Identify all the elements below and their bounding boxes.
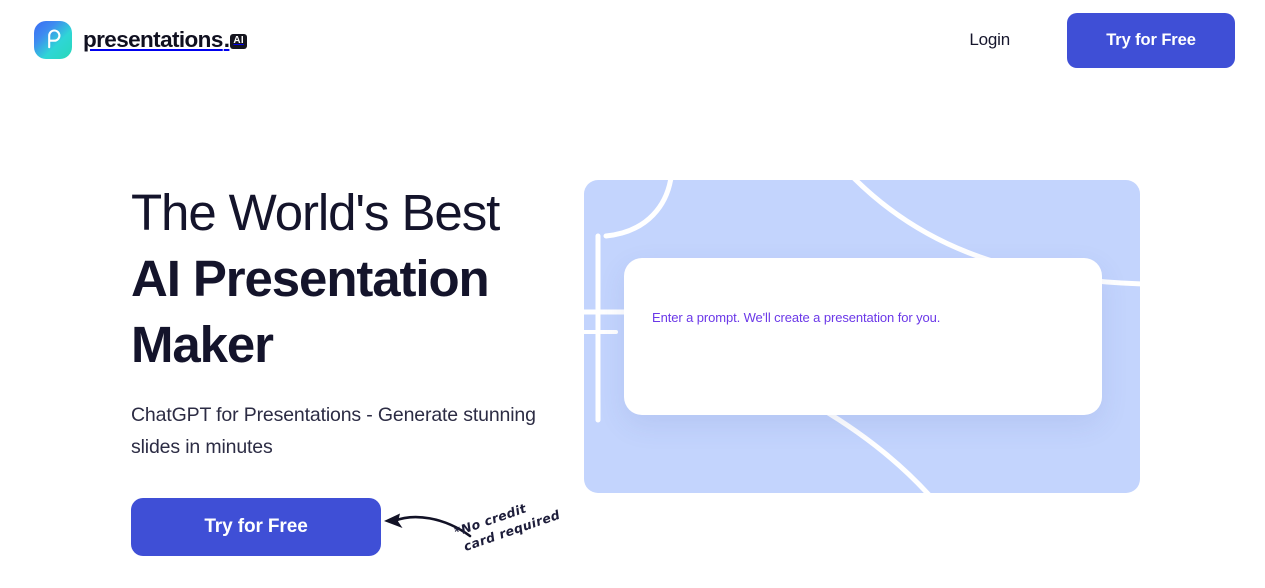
page-title-line-3: Maker [131,312,601,378]
brand-ai-badge: AI [230,34,246,49]
hero-subtitle: ChatGPT for Presentations - Generate stu… [131,399,583,463]
login-link[interactable]: Login [969,30,1010,50]
page-title-line-2: AI Presentation [131,246,601,312]
page-title: The World's Best AI Presentation Maker [131,180,601,378]
header-nav: Login Try for Free [969,12,1235,68]
prompt-input-card[interactable]: Enter a prompt. We'll create a presentat… [624,258,1102,415]
brand-word-text: presentations [83,29,223,52]
prompt-placeholder-text: Enter a prompt. We'll create a presentat… [652,310,940,325]
no-credit-card-note: *No credit card required [452,485,577,556]
hero-visual-panel: Enter a prompt. We'll create a presentat… [584,180,1140,493]
brand-wordmark: presentations.AI [83,29,247,52]
brand-logo[interactable]: presentations.AI [34,21,247,59]
page-title-line-1: The World's Best [131,180,601,246]
hero-try-for-free-button[interactable]: Try for Free [131,498,381,556]
landing-page: presentations.AI Login Try for Free The … [0,0,1265,588]
brand-dot: . [224,29,230,52]
site-header: presentations.AI Login Try for Free [0,0,1265,80]
hero-copy: The World's Best AI Presentation Maker C… [131,180,601,463]
header-try-for-free-button[interactable]: Try for Free [1067,13,1235,68]
presentations-logo-icon [34,21,72,59]
